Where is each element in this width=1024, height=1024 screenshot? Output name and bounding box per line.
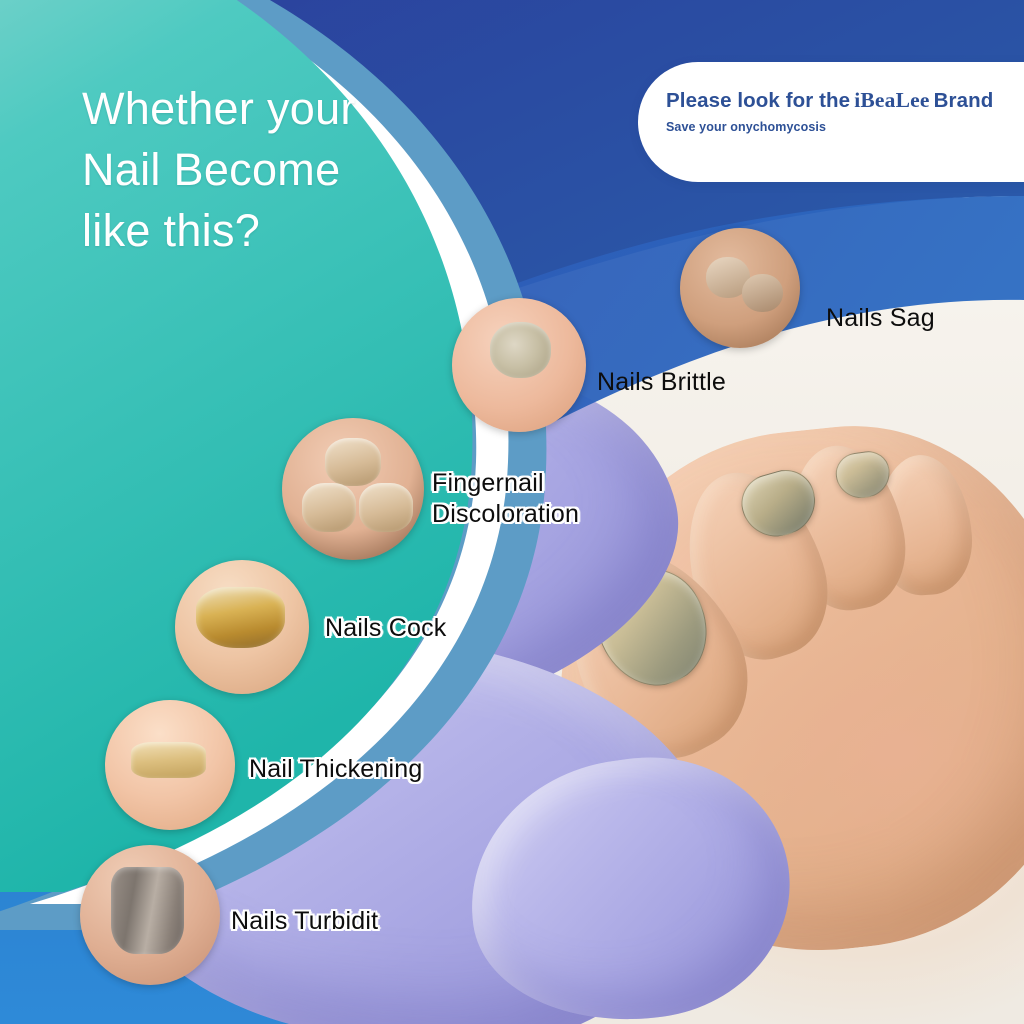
inset-photo-nails-cock bbox=[175, 560, 309, 694]
callout-label-nails-brittle: Nails Brittle bbox=[597, 367, 726, 398]
headline-line-2: Nail Become bbox=[82, 139, 482, 200]
inset-photo-nails-turbidit bbox=[80, 845, 220, 985]
nail-plate bbox=[490, 322, 552, 378]
callout-label-fingernail-discoloration: Fingernail Discoloration bbox=[432, 468, 579, 529]
callout-label-nails-cock: Nails Cock bbox=[325, 613, 446, 644]
nail-plate bbox=[359, 483, 413, 531]
headline-line-3: like this? bbox=[82, 200, 482, 261]
brand-banner-prefix: Please look for the bbox=[666, 89, 850, 112]
brand-name: iBeaLee bbox=[850, 88, 933, 112]
nail-plate bbox=[131, 742, 206, 778]
brand-banner: Please look for theiBeaLeeBrand Save you… bbox=[638, 62, 1024, 182]
brand-banner-subtitle: Save your onychomycosis bbox=[666, 120, 1024, 134]
inset-photo-nails-sag bbox=[680, 228, 800, 348]
brand-banner-headline: Please look for theiBeaLeeBrand bbox=[666, 88, 1024, 113]
callout-label-nails-turbidit: Nails Turbidit bbox=[231, 906, 378, 937]
page-title: Whether your Nail Become like this? bbox=[82, 78, 482, 262]
headline-line-1: Whether your bbox=[82, 78, 482, 139]
callout-label-nail-thickening: Nail Thickening bbox=[249, 754, 422, 785]
inset-photo-nail-thickening bbox=[105, 700, 235, 830]
nail-plate bbox=[302, 483, 356, 531]
nail-plate bbox=[196, 587, 284, 649]
nail-plate bbox=[111, 867, 184, 954]
inset-photo-nails-brittle bbox=[452, 298, 586, 432]
callout-label-nails-sag: Nails Sag bbox=[826, 303, 935, 334]
inset-photo-fingernail-discoloration bbox=[282, 418, 424, 560]
poster-canvas: Whether your Nail Become like this? Plea… bbox=[0, 0, 1024, 1024]
nail-plate-secondary bbox=[742, 274, 783, 312]
brand-banner-suffix: Brand bbox=[934, 89, 994, 112]
nail-plate bbox=[325, 438, 382, 486]
